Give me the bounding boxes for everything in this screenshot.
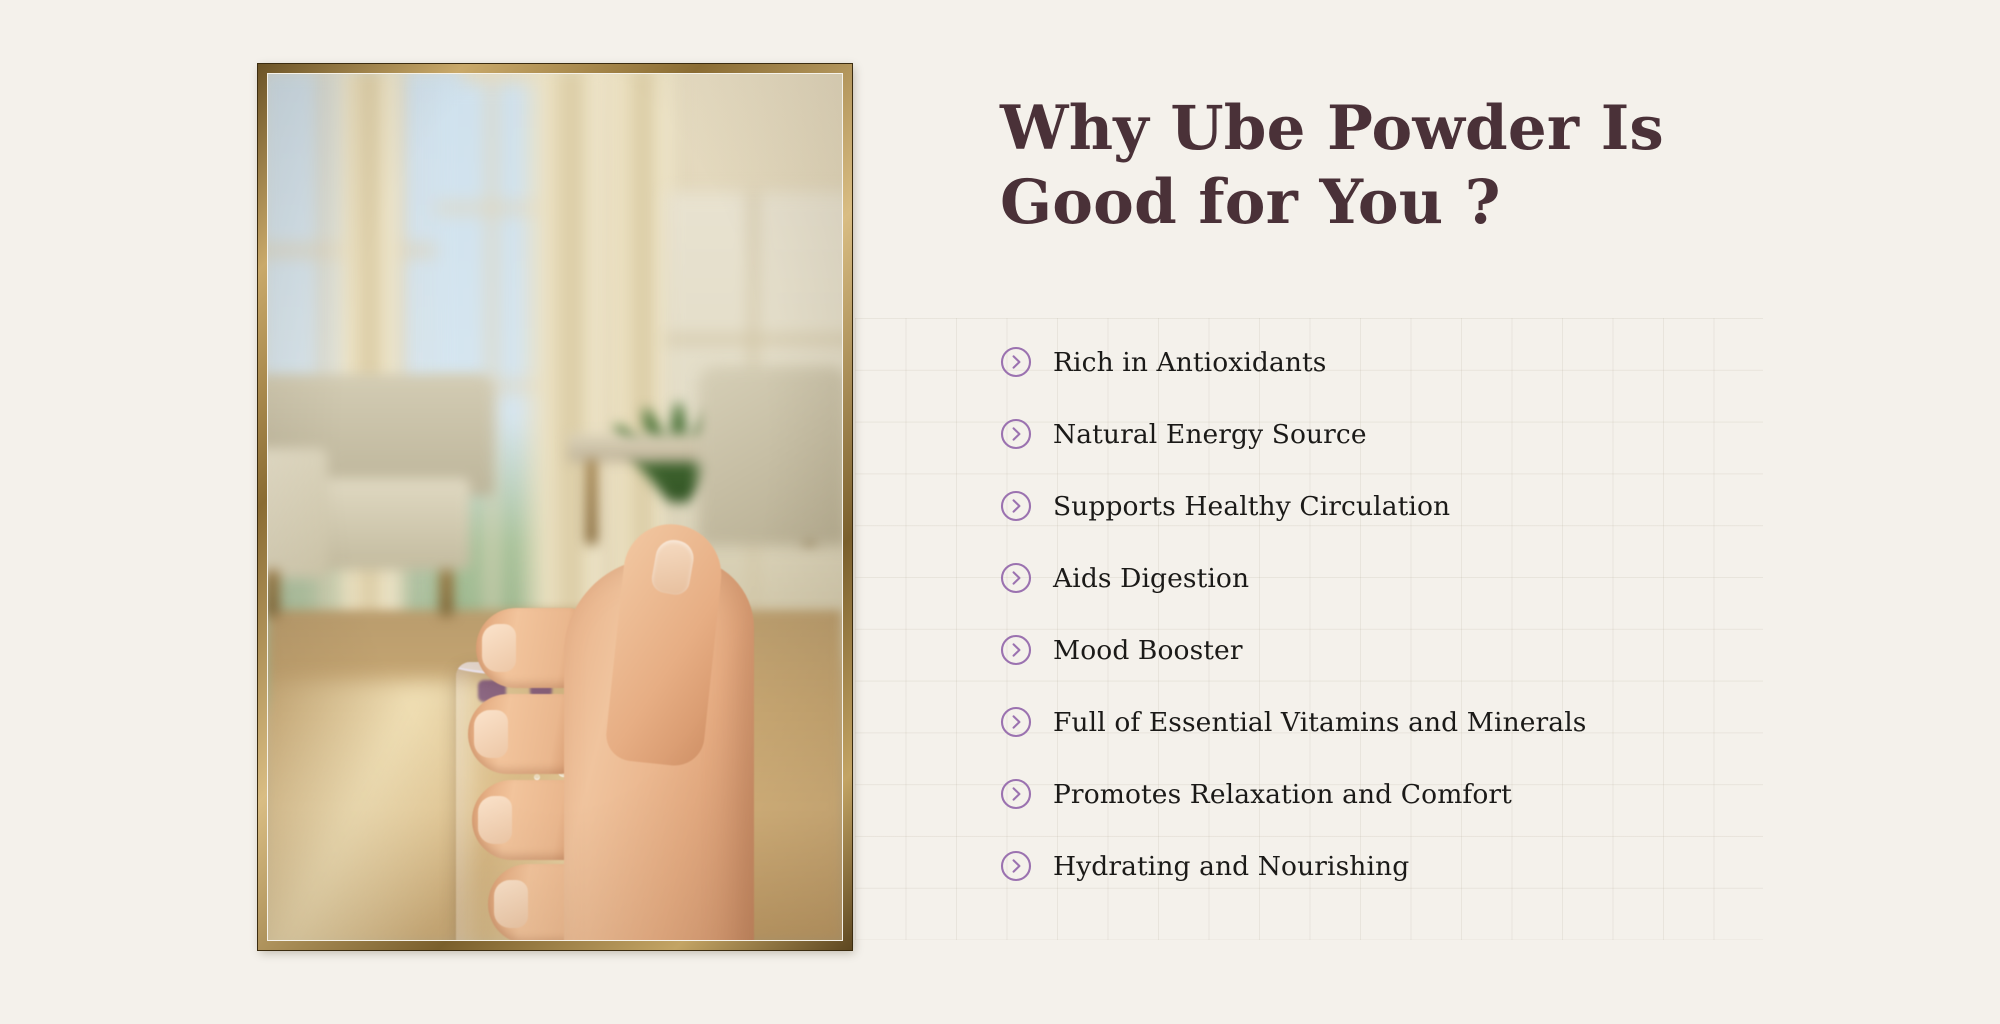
content-column: Why Ube Powder Is Good for You ? Rich in… <box>1000 0 2000 1024</box>
list-item[interactable]: Full of Essential Vitamins and Minerals <box>1000 686 1900 758</box>
list-item-label: Aids Digestion <box>1053 563 1249 594</box>
list-item[interactable]: Promotes Relaxation and Comfort <box>1000 758 1900 830</box>
list-item[interactable]: Aids Digestion <box>1000 542 1900 614</box>
list-item-label: Promotes Relaxation and Comfort <box>1053 779 1512 810</box>
list-item[interactable]: Supports Healthy Circulation <box>1000 470 1900 542</box>
ube-latte-photo <box>268 74 842 940</box>
list-item-label: Rich in Antioxidants <box>1053 347 1327 378</box>
chevron-right-circle-icon[interactable] <box>1000 706 1032 738</box>
list-item-label: Mood Booster <box>1053 635 1243 666</box>
list-item[interactable]: Mood Booster <box>1000 614 1900 686</box>
benefits-list: Rich in AntioxidantsNatural Energy Sourc… <box>1000 326 1900 902</box>
list-item-label: Supports Healthy Circulation <box>1053 491 1450 522</box>
photo-frame <box>258 64 852 950</box>
chevron-right-circle-icon[interactable] <box>1000 778 1032 810</box>
list-item-label: Hydrating and Nourishing <box>1053 851 1409 882</box>
chevron-right-circle-icon[interactable] <box>1000 490 1032 522</box>
list-item-label: Natural Energy Source <box>1053 419 1367 450</box>
list-item-label: Full of Essential Vitamins and Minerals <box>1053 707 1586 738</box>
chevron-right-circle-icon[interactable] <box>1000 562 1032 594</box>
promo-banner: Why Ube Powder Is Good for You ? Rich in… <box>0 0 2000 1024</box>
page-title-line-2: Good for You ? <box>1000 167 1501 238</box>
chevron-right-circle-icon[interactable] <box>1000 418 1032 450</box>
page-title: Why Ube Powder Is Good for You ? <box>1000 92 1760 241</box>
list-item[interactable]: Rich in Antioxidants <box>1000 326 1900 398</box>
page-title-line-1: Why Ube Powder Is <box>1000 93 1664 164</box>
list-item[interactable]: Natural Energy Source <box>1000 398 1900 470</box>
photo-frame-inner <box>267 73 843 941</box>
chevron-right-circle-icon[interactable] <box>1000 850 1032 882</box>
chevron-right-circle-icon[interactable] <box>1000 346 1032 378</box>
chevron-right-circle-icon[interactable] <box>1000 634 1032 666</box>
list-item[interactable]: Hydrating and Nourishing <box>1000 830 1900 902</box>
hand-holding-glass <box>364 440 764 940</box>
